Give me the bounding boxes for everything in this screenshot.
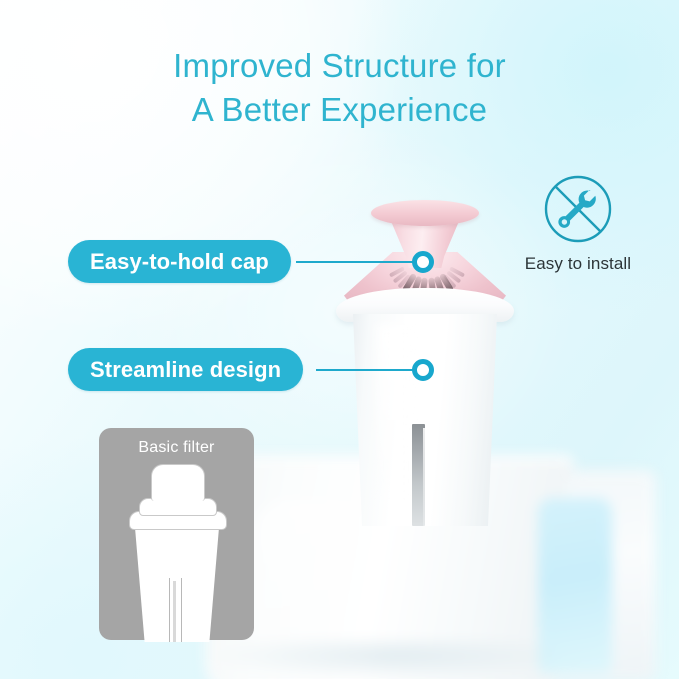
callout-leader-line-design [316,369,419,371]
page-title: Improved Structure for A Better Experien… [0,44,679,132]
callout-marker-cap [412,251,434,273]
promo-image: Improved Structure for A Better Experien… [0,0,679,679]
filter-body-slot-edge [423,428,426,526]
basic-filter-inset: Basic filter [99,428,254,640]
basic-filter-slot-inner [173,581,176,642]
callout-badge-easy-to-hold-cap: Easy-to-hold cap [68,240,291,283]
feature-caption: Easy to install [508,254,648,274]
basic-filter-illustration [99,458,254,640]
basic-filter-title: Basic filter [99,439,254,457]
feature-easy-to-install: Easy to install [508,172,648,274]
callout-leader-line-cap [296,261,421,263]
filter-cap-top [371,200,479,226]
callout-marker-design [412,359,434,381]
pitcher-shadow [215,640,565,679]
filter-body-highlight [376,324,416,504]
no-tools-wrench-icon [541,172,615,246]
callout-badge-streamline-design: Streamline design [68,348,303,391]
basic-filter-cap [151,464,205,501]
